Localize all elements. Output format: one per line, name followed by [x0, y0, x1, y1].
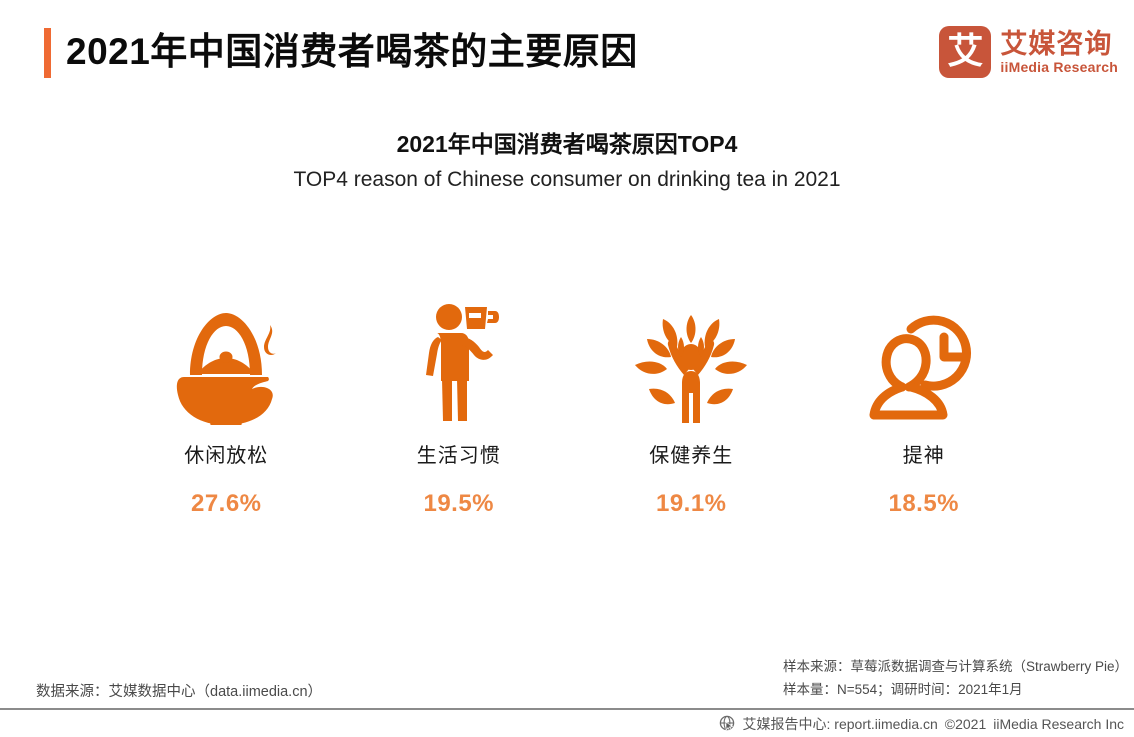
iimedia-logo-mark-icon: 艾 [939, 26, 991, 78]
infographic-page: 2021年中国消费者喝茶的主要原因 艾 艾媒咨询 iiMedia Researc… [0, 0, 1134, 737]
stat-item-label: 保健养生 [649, 439, 733, 468]
person-drinking-icon [409, 285, 509, 425]
chart-subtitle-en: TOP4 reason of Chinese consumer on drink… [0, 168, 1134, 192]
iimedia-logo: 艾 艾媒咨询 iiMedia Research [939, 26, 1118, 78]
stat-item-value: 18.5% [888, 490, 959, 518]
logo-name-cn: 艾媒咨询 [1000, 29, 1118, 59]
stat-item-value: 19.1% [656, 490, 727, 518]
page-title: 2021年中国消费者喝茶的主要原因 [66, 26, 638, 78]
logo-text: 艾媒咨询 iiMedia Research [1000, 29, 1118, 76]
stat-item: 保健养生 19.1% [575, 285, 808, 525]
stat-item-label: 休闲放松 [184, 439, 268, 468]
sample-info: 样本来源：草莓派数据调查与计算系统（Strawberry Pie） 样本量：N=… [783, 655, 1128, 701]
person-clock-icon [865, 285, 983, 425]
header: 2021年中国消费者喝茶的主要原因 艾 艾媒咨询 iiMedia Researc… [0, 0, 1134, 108]
stat-item-label: 生活习惯 [417, 439, 501, 468]
globe-cursor-icon [719, 715, 736, 732]
stat-item-value: 19.5% [423, 490, 494, 518]
sample-size-note: 样本量：N=554；调研时间：2021年1月 [783, 678, 1128, 701]
stat-item: 休闲放松 27.6% [110, 285, 343, 525]
report-center-link[interactable]: 艾媒报告中心: report.iimedia.cn [743, 714, 938, 734]
stat-item-label: 提神 [903, 439, 945, 468]
stat-item: 生活习惯 19.5% [343, 285, 576, 525]
chart-subtitle-cn: 2021年中国消费者喝茶原因TOP4 [0, 125, 1134, 159]
copyright-text: ©2021 [945, 716, 986, 732]
teapot-icon [164, 285, 288, 425]
bottom-bar: 艾媒报告中心: report.iimedia.cn ©2021 iiMedia … [0, 710, 1134, 737]
title-accent-bar [44, 28, 51, 78]
stat-item-value: 27.6% [191, 490, 262, 518]
stat-item: 提神 18.5% [808, 285, 1041, 525]
logo-name-en: iiMedia Research [1000, 59, 1118, 76]
stat-item-list: 休闲放松 27.6% [110, 285, 1040, 525]
company-name: iiMedia Research Inc [993, 716, 1124, 732]
sample-source-note: 样本来源：草莓派数据调查与计算系统（Strawberry Pie） [783, 655, 1128, 678]
wellness-tree-person-icon [627, 285, 755, 425]
data-source-note: 数据来源：艾媒数据中心（data.iimedia.cn） [36, 680, 322, 701]
